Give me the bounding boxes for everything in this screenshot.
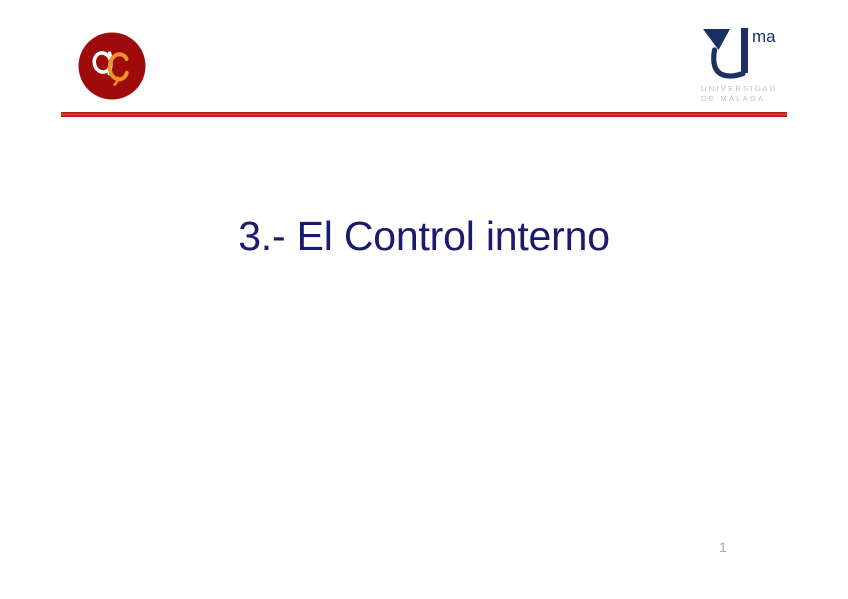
header-divider-rule [61,112,787,117]
ac-monogram-logo [78,32,146,100]
presentation-slide: ma UNIVERSIDAD DE MÁLAGA 3.- El Control … [0,0,848,599]
uma-logo-suffix: ma [752,28,776,45]
uma-logo: ma UNIVERSIDAD DE MÁLAGA [700,24,796,104]
slide-footer: 1 [0,525,848,599]
slide-header: ma UNIVERSIDAD DE MÁLAGA [0,0,848,125]
slide-body: 3.- El Control interno [0,125,848,525]
uma-wordmark: UNIVERSIDAD DE MÁLAGA [701,84,796,103]
uma-wordmark-line2: DE MÁLAGA [701,94,796,104]
uma-wordmark-line1: UNIVERSIDAD [701,84,796,94]
slide-title: 3.- El Control interno [0,212,848,260]
page-number: 1 [706,539,740,555]
